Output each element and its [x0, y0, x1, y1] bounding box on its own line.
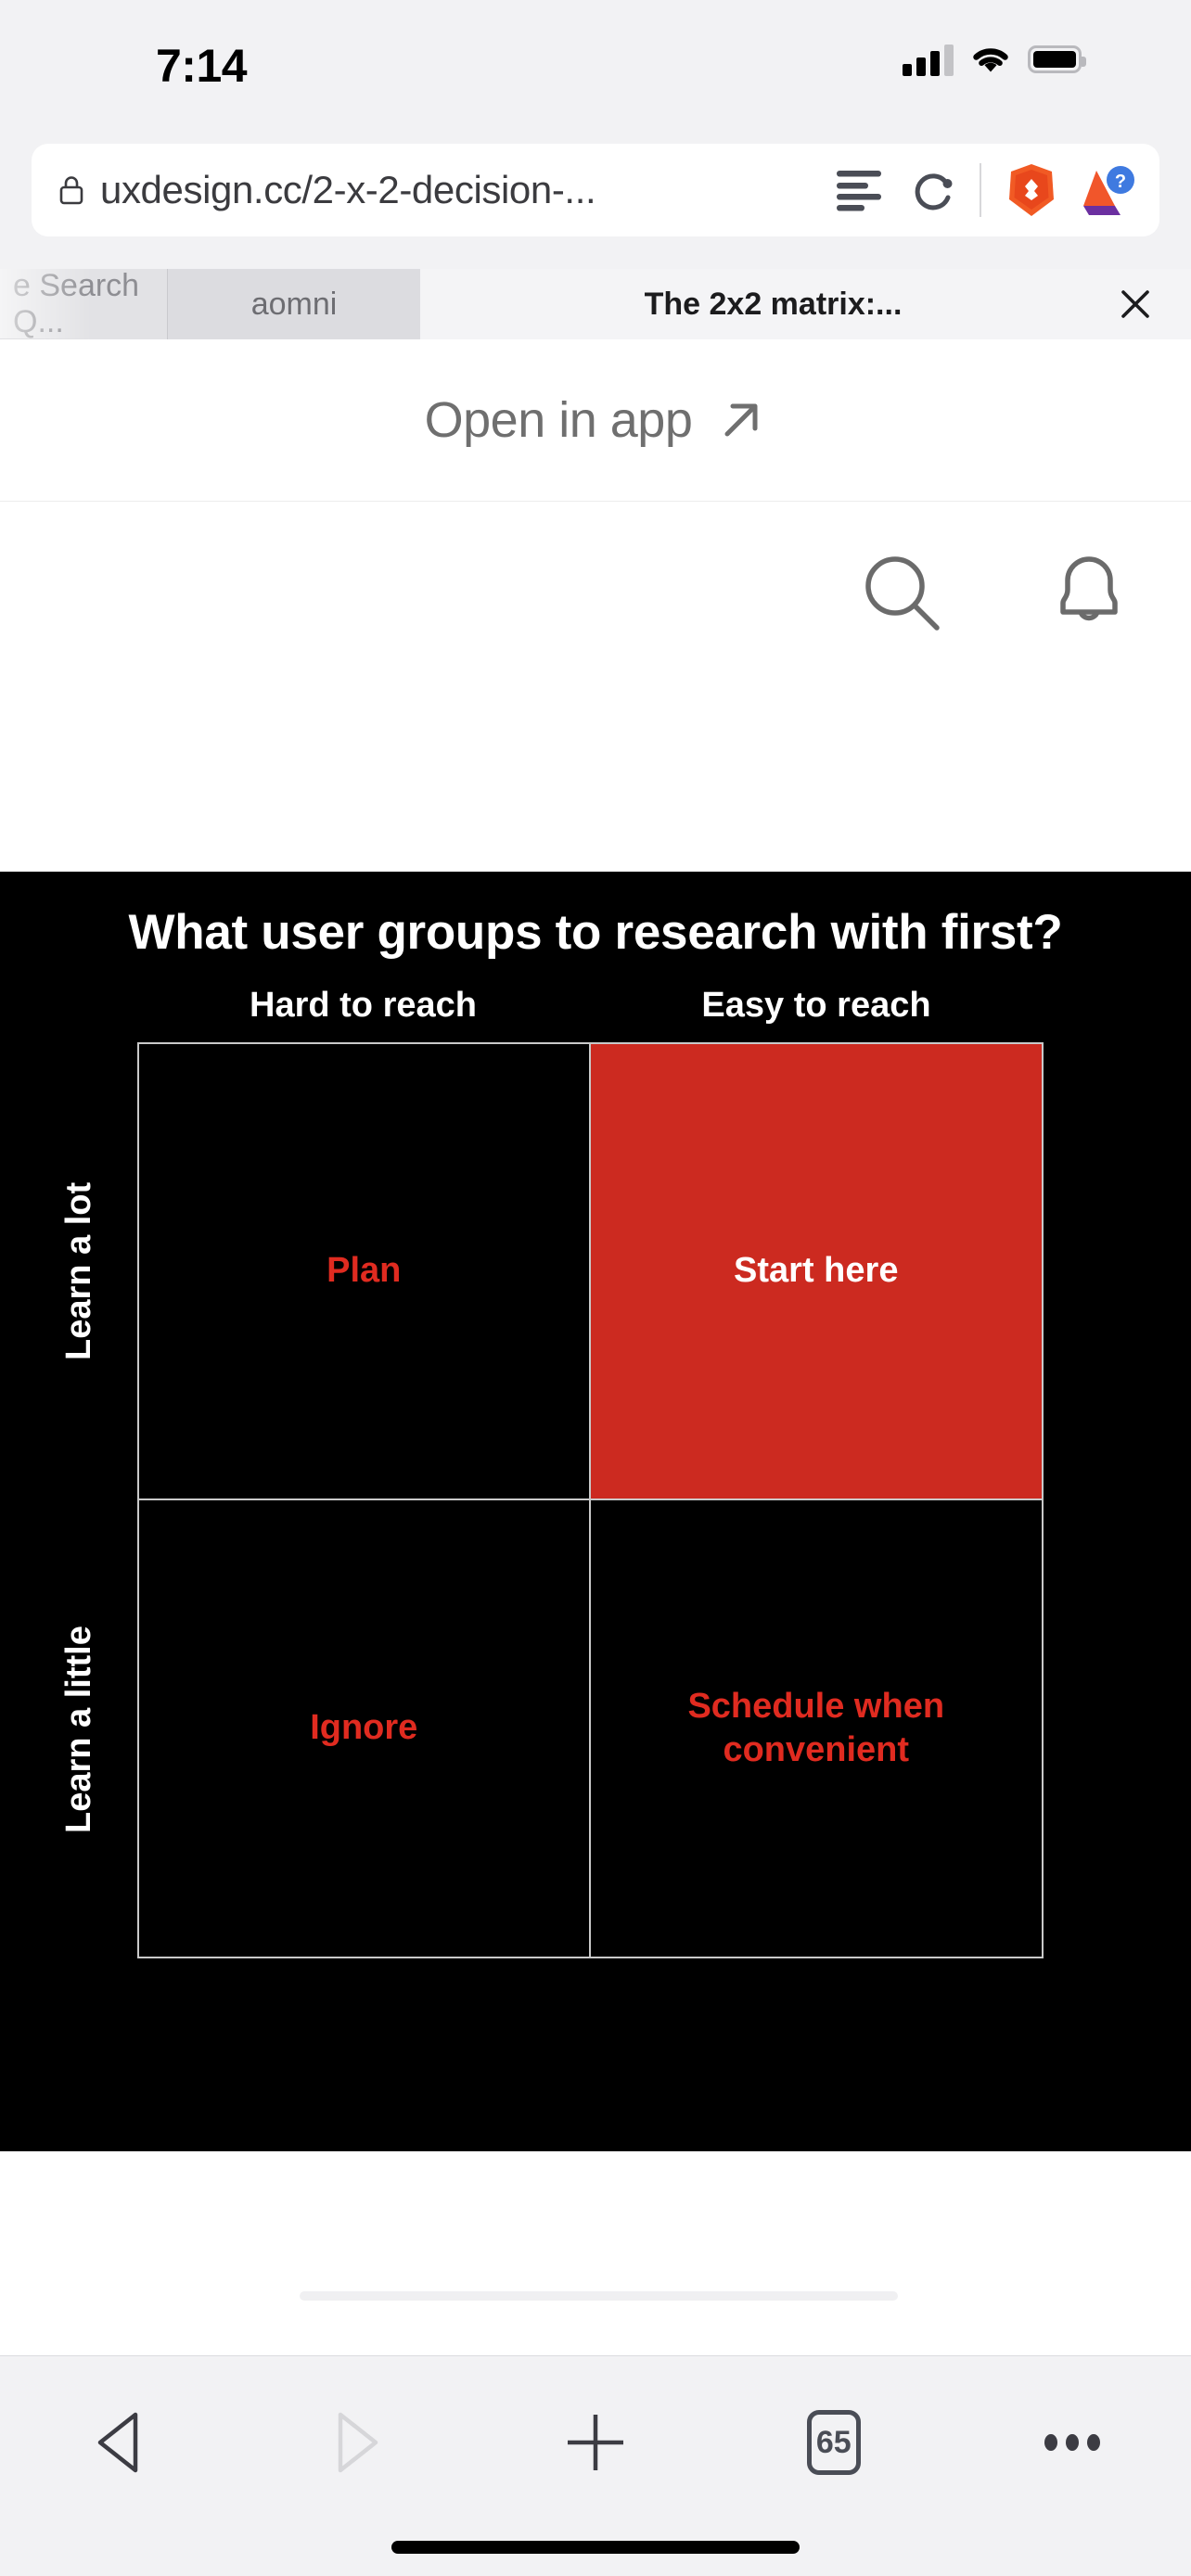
back-arrow-icon: [95, 2411, 143, 2474]
tab-strip: e Search Q... aomni The 2x2 matrix:...: [0, 269, 1191, 339]
web-page-content: Open in app What user groups to research…: [0, 339, 1191, 2355]
more-options-button[interactable]: [953, 2382, 1191, 2503]
browser-tab-aomni[interactable]: aomni: [167, 269, 420, 339]
arrow-up-right-icon: [716, 395, 766, 445]
forward-button[interactable]: [238, 2382, 477, 2503]
more-options-icon: [1044, 2434, 1100, 2451]
matrix-cell-schedule: Schedule when convenient: [591, 1500, 1043, 1957]
horizontal-scrollbar[interactable]: [300, 2291, 898, 2301]
figure-title: What user groups to research with first?: [0, 904, 1191, 961]
site-header-actions: [861, 551, 1126, 636]
cellular-signal-icon: [903, 43, 954, 76]
home-indicator: [391, 2541, 800, 2554]
tab-count-badge: 65: [807, 2410, 861, 2475]
brave-leo-ai-icon[interactable]: ?: [1078, 163, 1135, 217]
toolbar-buttons: 65: [0, 2382, 1191, 2503]
close-icon[interactable]: [1119, 287, 1152, 321]
row-label-learn-a-lot: Learn a lot: [59, 1042, 99, 1500]
browser-bottom-toolbar: 65: [0, 2355, 1191, 2576]
forward-arrow-icon: [333, 2411, 381, 2474]
page-bottom-whitespace: [0, 2151, 1191, 2355]
site-header: [0, 503, 1191, 872]
url-text[interactable]: uxdesign.cc/2-x-2-decision-...: [100, 168, 835, 212]
reload-icon[interactable]: [911, 168, 955, 212]
matrix-cell-plan: Plan: [139, 1044, 591, 1500]
wifi-icon: [970, 44, 1011, 75]
matrix-cell-start-here: Start here: [591, 1044, 1043, 1500]
bell-icon[interactable]: [1052, 551, 1126, 636]
status-bar-time: 7:14: [156, 39, 247, 93]
matrix-grid: Plan Start here Ignore Schedule when con…: [137, 1042, 1044, 1958]
status-bar: 7:14: [0, 0, 1191, 128]
column-label-easy-to-reach: Easy to reach: [589, 986, 1044, 1026]
row-label-learn-a-little: Learn a little: [59, 1500, 99, 1958]
back-button[interactable]: [0, 2382, 238, 2503]
column-label-hard-to-reach: Hard to reach: [137, 986, 589, 1026]
browser-tab-active[interactable]: The 2x2 matrix:...: [420, 269, 1191, 339]
tab-overview-button[interactable]: 65: [714, 2382, 953, 2503]
url-bar-container: uxdesign.cc/2-x-2-decision-...: [0, 128, 1191, 269]
new-tab-button[interactable]: [477, 2382, 715, 2503]
toolbar-divider: [980, 163, 981, 217]
open-in-app-banner[interactable]: Open in app: [0, 339, 1191, 502]
address-bar-actions: ?: [835, 162, 1159, 218]
lock-icon: [59, 175, 83, 205]
tab-title: The 2x2 matrix:...: [645, 287, 903, 323]
reader-mode-icon[interactable]: [835, 169, 883, 211]
plus-icon: [565, 2412, 626, 2473]
matrix-figure: What user groups to research with first?…: [0, 872, 1191, 2151]
address-bar[interactable]: uxdesign.cc/2-x-2-decision-...: [32, 144, 1159, 236]
phone-screen: 7:14 uxdesign.cc/2-x-2-decision-...: [0, 0, 1191, 2576]
status-bar-indicators: [903, 43, 1082, 76]
battery-full-icon: [1028, 45, 1082, 73]
svg-text:?: ?: [1115, 172, 1126, 192]
tab-title: aomni: [251, 287, 338, 323]
tab-title: e Search Q...: [13, 268, 167, 340]
open-in-app-label: Open in app: [425, 391, 693, 449]
matrix-cell-ignore: Ignore: [139, 1500, 591, 1957]
brave-lion-icon[interactable]: [1005, 162, 1057, 218]
search-icon[interactable]: [861, 553, 942, 634]
browser-tab-previous[interactable]: e Search Q...: [0, 269, 167, 339]
